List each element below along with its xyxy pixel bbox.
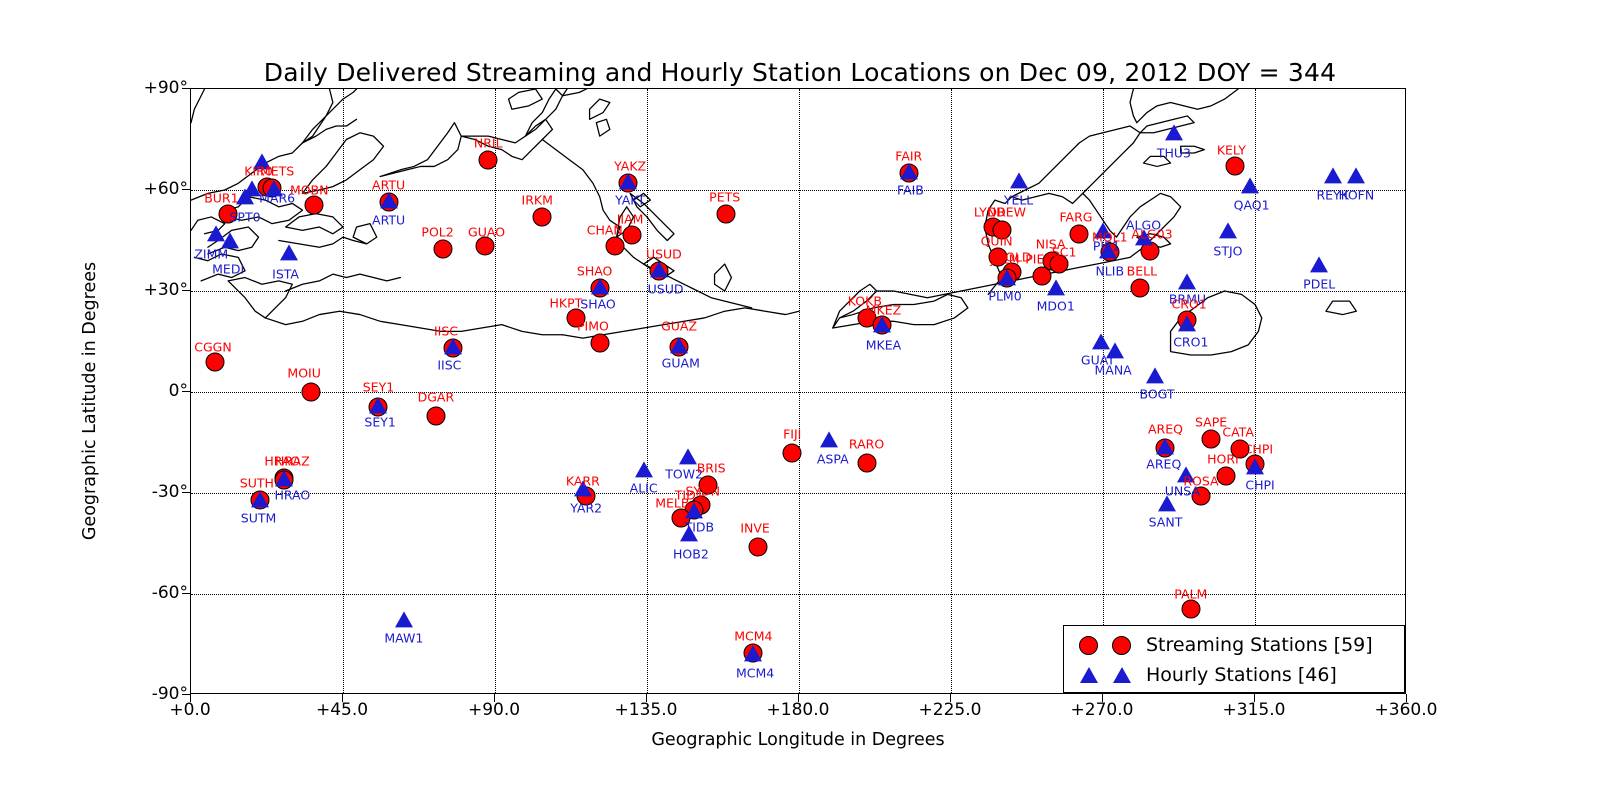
station-marker-pol2 (433, 239, 452, 258)
x-axis-label: Geographic Longitude in Degrees (190, 730, 1406, 750)
station-label-tidb: TIDB (685, 519, 715, 534)
station-label-sey1: SEY1 (363, 379, 394, 394)
station-label-dgar: DGAR (418, 390, 455, 405)
station-label-iisc: IISC (437, 358, 461, 373)
station-label-stjo: STJO (1213, 243, 1242, 258)
station-label-sutm: SUTM (241, 511, 277, 526)
station-marker-raro (857, 453, 876, 472)
station-marker-bell (1131, 278, 1150, 297)
x-tick-mark (646, 694, 647, 702)
station-label-kely: KELY (1217, 142, 1246, 157)
station-label-yakz: YAKZ (614, 159, 646, 174)
x-tick-label: +45.0 (316, 700, 368, 720)
station-marker-hori (1217, 467, 1236, 486)
gridline-vertical (799, 89, 800, 693)
x-tick-mark (494, 694, 495, 702)
gridline-vertical (951, 89, 952, 693)
station-label-mcm4: MCM4 (734, 629, 772, 644)
station-label-fiji: FIJI (783, 427, 801, 442)
station-label-pie1: PIE1 (1025, 252, 1052, 267)
triangle-icon (1105, 667, 1138, 683)
station-marker-qaq1 (1241, 177, 1259, 193)
circle-icon (1105, 636, 1138, 655)
station-label-bell: BELL (1127, 263, 1157, 278)
station-label-hrao: HRAO (274, 487, 310, 502)
circle-icon (1072, 636, 1105, 655)
station-marker-yell (1010, 172, 1028, 188)
station-marker-artu (380, 192, 398, 208)
station-label-suth: SUTH (240, 475, 274, 490)
station-marker-faib (900, 164, 918, 180)
station-marker-inve (749, 537, 768, 556)
x-tick-label: +180.0 (767, 700, 830, 720)
station-label-thu3: THU3 (1157, 145, 1191, 160)
station-label-qaq1: QAQ1 (1234, 198, 1270, 213)
station-marker-maw1 (395, 611, 413, 627)
station-marker-cggn (205, 352, 224, 371)
station-label-moiu: MOIU (287, 366, 320, 381)
station-label-bris: BRIS (697, 460, 726, 475)
station-label-guao: GUAO (468, 225, 505, 240)
station-label-artu: ARTU (372, 177, 405, 192)
station-label-yakt: YAKT (615, 193, 645, 208)
station-marker-irkm (533, 207, 552, 226)
station-label-pimo: PIMO (577, 319, 609, 334)
station-label-guaz: GUAZ (661, 319, 697, 334)
station-label-melb: MELB (655, 496, 689, 511)
station-label-faib: FAIB (897, 183, 924, 198)
station-label-pol2: POL2 (421, 225, 453, 240)
station-label-chan: CHAN (587, 223, 623, 238)
station-label-artu: ARTU (372, 213, 405, 228)
station-label-nril: NRIL (474, 135, 503, 150)
station-label-alic: ALIC (630, 480, 658, 495)
station-label-hori: HORI (1207, 452, 1239, 467)
station-marker-mdo1 (1047, 280, 1065, 296)
station-label-cro1: CRO1 (1173, 334, 1208, 349)
station-label-sey1: SEY1 (364, 415, 395, 430)
station-marker-onsa (243, 180, 261, 196)
station-marker-pdel (1310, 256, 1328, 272)
station-marker-sutm (251, 492, 269, 508)
station-marker-stjo (1219, 222, 1237, 238)
x-tick-mark (950, 694, 951, 702)
station-label-yar2: YAR2 (570, 501, 602, 516)
station-label-aspa: ASPA (817, 452, 849, 467)
y-tick-mark (182, 492, 190, 493)
gridline-horizontal (191, 594, 1405, 595)
station-marker-thu3 (1165, 125, 1183, 141)
station-label-fair: FAIR (895, 149, 922, 164)
station-marker-chpi (1246, 458, 1264, 474)
station-label-quin: QUIN (981, 233, 1013, 248)
station-marker-cro1 (1178, 315, 1196, 331)
station-label-hrao: HRAO (264, 454, 300, 469)
station-marker-shao (591, 278, 609, 294)
x-tick-label: +225.0 (919, 700, 982, 720)
station-label-karr: KARR (566, 474, 600, 489)
legend-label-streaming: Streaming Stations [59] (1146, 634, 1373, 656)
x-tick-mark (1254, 694, 1255, 702)
station-label-hob2: HOB2 (673, 546, 709, 561)
station-marker-guam (670, 337, 688, 353)
station-marker-farg (1070, 224, 1089, 243)
gridline-horizontal (191, 291, 1405, 292)
gridline-vertical (495, 89, 496, 693)
station-label-hofn: HOFN (1338, 188, 1374, 203)
y-axis-label: Geographic Latitude in Degrees (80, 121, 100, 681)
station-label-mdo1: MDO1 (1037, 299, 1075, 314)
station-marker-iisc (444, 339, 462, 355)
station-label-hkpt: HKPT (550, 295, 583, 310)
station-marker-pets (717, 204, 736, 223)
station-label-drew: DREW (987, 204, 1026, 219)
legend-item-streaming: Streaming Stations [59] (1072, 630, 1394, 660)
legend: Streaming Stations [59] Hourly Stations … (1063, 625, 1405, 693)
x-tick-label: +315.0 (1223, 700, 1286, 720)
station-label-mol1: MOL1 (1092, 230, 1128, 245)
station-label-chpi: CHPI (1245, 477, 1274, 492)
station-label-cata: CATA (1222, 425, 1254, 440)
y-tick-mark (182, 593, 190, 594)
x-tick-mark (190, 694, 191, 702)
station-marker-pimo (590, 334, 609, 353)
station-label-bur1: BUR1 (204, 191, 238, 206)
station-marker-mobn (305, 196, 324, 215)
station-marker-alic (635, 462, 653, 478)
map-plot-area: BUR1SPT0KIR0MAR6METSZIMMMEDIISTAMOBNARTU… (190, 88, 1406, 694)
station-marker-dgar (426, 406, 445, 425)
station-label-mkea: MKEA (866, 337, 901, 352)
station-label-areq: AREQ (1148, 422, 1183, 437)
station-label-sant: SANT (1149, 514, 1183, 529)
station-label-plm0: PLM0 (988, 289, 1021, 304)
station-marker-chan (605, 236, 624, 255)
station-label-nlib: NLIB (1095, 263, 1124, 278)
gridline-vertical (647, 89, 648, 693)
station-marker-reyk (1324, 167, 1342, 183)
x-tick-label: +90.0 (468, 700, 520, 720)
x-tick-label: +135.0 (615, 700, 678, 720)
station-label-mobn: MOBN (290, 183, 329, 198)
station-label-shao: SHAO (580, 297, 616, 312)
x-tick-label: +0.0 (169, 700, 210, 720)
station-label-mets: METS (260, 164, 294, 179)
station-label-irkm: IRKM (522, 193, 553, 208)
station-label-shao: SHAO (577, 263, 613, 278)
station-marker-hrao (275, 470, 293, 486)
station-marker-mcm4 (744, 645, 762, 661)
station-marker-nril (479, 150, 498, 169)
station-label-mana: MANA (1095, 363, 1132, 378)
station-marker-ista (280, 244, 298, 260)
station-label-alg03: ALG03 (1131, 226, 1172, 241)
x-tick-label: +360.0 (1375, 700, 1438, 720)
station-label-guam: GUAM (662, 356, 700, 371)
chart-root: Daily Delivered Streaming and Hourly Sta… (0, 0, 1600, 800)
y-tick-mark (182, 88, 190, 89)
station-label-raro: RARO (849, 437, 884, 452)
x-tick-mark (342, 694, 343, 702)
station-label-usud: USUD (648, 282, 684, 297)
station-label-usud: USUD (646, 246, 682, 261)
legend-item-hourly: Hourly Stations [46] (1072, 660, 1394, 690)
station-marker-kely (1225, 157, 1244, 176)
y-tick-mark (182, 391, 190, 392)
x-tick-mark (1406, 694, 1407, 702)
gridline-horizontal (191, 493, 1405, 494)
station-label-spt0: SPT0 (230, 209, 261, 224)
x-tick-label: +270.0 (1071, 700, 1134, 720)
station-marker-jiam (622, 226, 641, 245)
y-tick-mark (182, 290, 190, 291)
station-marker-sey1 (369, 398, 387, 414)
station-label-maw1: MAW1 (384, 630, 423, 645)
station-label-mcm4: MCM4 (736, 666, 774, 681)
station-label-areq: AREQ (1146, 457, 1181, 472)
legend-label-hourly: Hourly Stations [46] (1146, 664, 1337, 686)
station-label-chpi: CHPI (1244, 442, 1273, 457)
station-marker-areq (1156, 438, 1174, 454)
x-tick-mark (1102, 694, 1103, 702)
y-tick-mark (182, 189, 190, 190)
station-label-farg: FARG (1059, 209, 1092, 224)
station-label-rosa: ROSA (1183, 474, 1218, 489)
station-label-zimm: ZIMM (194, 246, 228, 261)
station-label-medi: MEDI (212, 262, 244, 277)
chart-title: Daily Delivered Streaming and Hourly Sta… (0, 58, 1600, 87)
station-marker-sape (1202, 430, 1221, 449)
station-label-palm: PALM (1174, 587, 1207, 602)
station-label-iisc: IISC (434, 324, 458, 339)
station-label-inve: INVE (740, 521, 770, 536)
station-label-cggn: CGGN (194, 339, 231, 354)
station-marker-hofn (1347, 167, 1365, 183)
station-marker-aspa (820, 431, 838, 447)
triangle-icon (1072, 667, 1105, 683)
station-marker-tow2 (679, 448, 697, 464)
station-label-jplm: JPLM (991, 252, 1020, 267)
station-marker-moiu (301, 383, 320, 402)
gridline-vertical (343, 89, 344, 693)
station-marker-yakt (619, 174, 637, 190)
station-marker-mkea (873, 317, 891, 333)
y-tick-mark (182, 694, 190, 695)
station-label-cro1: CRO1 (1172, 297, 1207, 312)
station-label-pets: PETS (709, 189, 740, 204)
station-marker-bogt (1146, 367, 1164, 383)
station-marker-plm0 (998, 270, 1016, 286)
station-label-bogt: BOGT (1139, 386, 1174, 401)
station-label-sc1: SC1 (1052, 245, 1077, 260)
x-tick-mark (798, 694, 799, 702)
station-label-pdel: PDEL (1303, 277, 1335, 292)
station-label-ista: ISTA (272, 267, 299, 282)
station-marker-brmu (1178, 273, 1196, 289)
gridline-vertical (1103, 89, 1104, 693)
station-marker-fiji (783, 443, 802, 462)
station-marker-usud (650, 261, 668, 277)
station-marker-palm (1181, 600, 1200, 619)
station-label-mkez: MKEZ (866, 302, 901, 317)
